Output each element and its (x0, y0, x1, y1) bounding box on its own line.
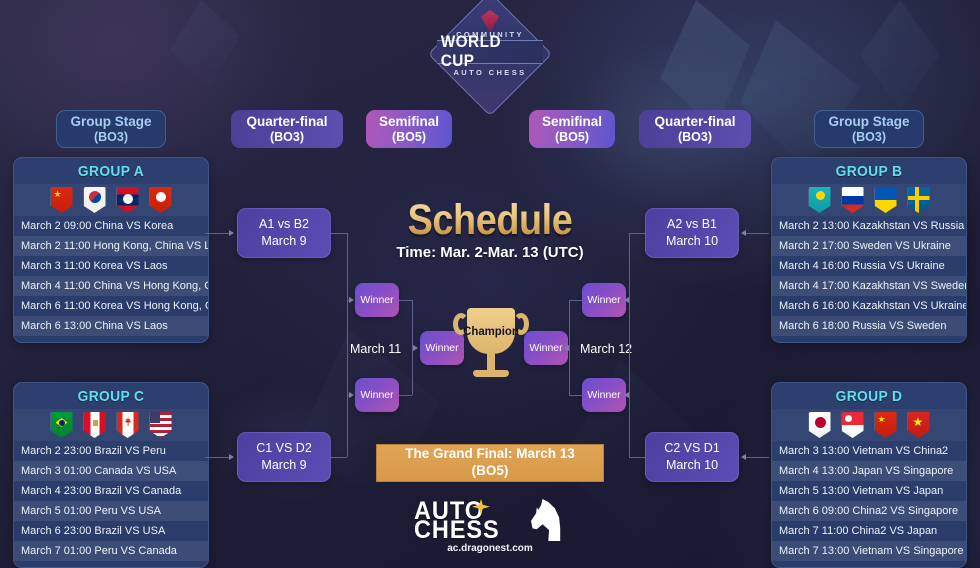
match-date: March 9 (261, 233, 306, 250)
match-row: March 6 11:00 Korea VS Hong Kong, China (14, 296, 208, 316)
page-title: Schedule (358, 196, 622, 245)
match-label: C1 VS D2 (256, 440, 312, 457)
connector-arrow (741, 454, 746, 460)
connector (743, 457, 769, 458)
winner-node-right-upper[interactable]: Winner (582, 283, 626, 317)
match-row: March 3 13:00 Vietnam VS China2 (772, 441, 966, 461)
winner-node-right-lower[interactable]: Winner (582, 378, 626, 412)
bg-shard (860, 0, 940, 110)
stage-badge-label: Semifinal (542, 114, 602, 129)
logo-autochess-text: AUTO CHESS (429, 68, 551, 77)
match-row: March 5 01:00 Peru VS USA (14, 501, 208, 521)
connector (205, 233, 231, 234)
quarterfinal-node-right-top[interactable]: A2 vs B1 March 10 (645, 208, 739, 258)
quarterfinal-node-right-bottom[interactable]: C2 VS D1 March 10 (645, 432, 739, 482)
panel-padding (14, 336, 208, 342)
group-flags (772, 184, 966, 216)
group-title: GROUP C (22, 383, 200, 409)
connector (331, 457, 347, 458)
connector-arrow (624, 392, 629, 398)
semifinal-left-date: March 11 (350, 342, 401, 356)
logo-main-text: WORLD CUP (441, 33, 540, 71)
match-label: A1 vs B2 (259, 216, 309, 233)
group-flags: ★ (14, 184, 208, 216)
hong-kong-flag (150, 187, 172, 213)
grand-final-banner: The Grand Final: March 13 (BO5) (376, 444, 604, 482)
group-flags: ★★ (772, 409, 966, 441)
match-row: March 2 23:00 Brazil VS Peru (14, 441, 208, 461)
singapore-flag (842, 412, 864, 438)
match-row: March 4 13:00 Japan VS Singapore (772, 461, 966, 481)
canada-flag (117, 412, 139, 438)
quarterfinal-node-left-bottom[interactable]: C1 VS D2 March 9 (237, 432, 331, 482)
connector-arrow (229, 230, 234, 236)
match-row: March 3 11:00 Korea VS Laos (14, 256, 208, 276)
connector-arrow (741, 230, 746, 236)
match-row: March 6 09:00 China2 VS Singapore (772, 501, 966, 521)
connector (743, 233, 769, 234)
match-row: March 6 16:00 Kazakhstan VS Ukraine (772, 296, 966, 316)
semifinal-right-date: March 12 (580, 342, 632, 356)
connector (347, 233, 348, 457)
connector (399, 300, 412, 301)
winner-node-left-upper[interactable]: Winner (355, 283, 399, 317)
stage-badge-quarterfinal-right: Quarter-final (BO3) (639, 110, 751, 148)
connector-arrow (349, 297, 354, 303)
panel-padding (14, 561, 208, 567)
match-row: March 2 13:00 Kazakhstan VS Russia (772, 216, 966, 236)
schedule-time-label: Time: Mar. 2-Mar. 13 (UTC) (340, 244, 640, 261)
match-row: March 2 09:00 China VS Korea (14, 216, 208, 236)
group-panel-a: GROUP A★March 2 09:00 China VS KoreaMarc… (13, 157, 209, 343)
quarterfinal-node-left-top[interactable]: A1 vs B2 March 9 (237, 208, 331, 258)
connector (629, 233, 630, 457)
group-title: GROUP A (22, 158, 200, 184)
bg-shard (300, 330, 440, 510)
match-row: March 6 23:00 Brazil VS USA (14, 521, 208, 541)
russia-flag (842, 187, 864, 213)
match-label: A2 vs B1 (667, 216, 717, 233)
china-flag: ★ (51, 187, 73, 213)
connector-arrow (349, 392, 354, 398)
tournament-logo: COMMUNITY WORLD CUP AUTO CHESS (429, 2, 551, 96)
group-title: GROUP D (780, 383, 958, 409)
panel-padding (772, 561, 966, 567)
match-row: March 2 17:00 Sweden VS Ukraine (772, 236, 966, 256)
champion-label: Champion (457, 324, 525, 338)
korea-flag (84, 187, 106, 213)
group-panel-d: GROUP D★★March 3 13:00 Vietnam VS China2… (771, 382, 967, 568)
footer-word-chess: CHESS (414, 516, 525, 545)
vietnam-flag: ★ (908, 412, 930, 438)
match-row: March 3 01:00 Canada VS USA (14, 461, 208, 481)
stage-badge-semifinal-right: Semifinal (BO5) (529, 110, 615, 148)
connector (569, 300, 582, 301)
knight-chess-piece-icon (526, 499, 562, 541)
match-row: March 7 11:00 China2 VS Japan (772, 521, 966, 541)
connector (569, 300, 570, 395)
stage-badge-label: Semifinal (379, 114, 439, 129)
stage-badge-label: Group Stage (70, 114, 151, 129)
stage-badge-format: (BO3) (678, 130, 712, 144)
stage-badge-label: Group Stage (828, 114, 909, 129)
match-row: March 4 11:00 China VS Hong Kong, China (14, 276, 208, 296)
champion-trophy-icon: Champion (455, 308, 527, 388)
match-date: March 10 (666, 233, 718, 250)
match-row: March 6 18:00 Russia VS Sweden (772, 316, 966, 336)
peru-flag (84, 412, 106, 438)
connector-arrow (229, 454, 234, 460)
stage-badge-quarterfinal-left: Quarter-final (BO3) (231, 110, 343, 148)
connector-arrow (564, 345, 569, 351)
grand-final-format: (BO5) (472, 463, 509, 480)
match-row: March 4 17:00 Kazakhstan VS Sweden (772, 276, 966, 296)
connector (205, 457, 231, 458)
connector (399, 395, 412, 396)
grand-final-title: The Grand Final: March 13 (405, 446, 575, 463)
match-row: March 7 01:00 Peru VS Canada (14, 541, 208, 561)
logo-main-band: WORLD CUP (437, 40, 543, 64)
match-row: March 4 23:00 Brazil VS Canada (14, 481, 208, 501)
group-panel-b: GROUP BMarch 2 13:00 Kazakhstan VS Russi… (771, 157, 967, 343)
connector (569, 395, 582, 396)
group-title: GROUP B (780, 158, 958, 184)
connector (629, 233, 645, 234)
stage-badge-format: (BO5) (392, 130, 426, 144)
winner-node-left-lower[interactable]: Winner (355, 378, 399, 412)
stage-badge-label: Quarter-final (654, 114, 735, 129)
match-row: March 2 11:00 Hong Kong, China VS Laos (14, 236, 208, 256)
bg-shard (170, 0, 240, 90)
winner-node-semifinal-right[interactable]: Winner (524, 331, 568, 365)
panel-padding (772, 336, 966, 342)
stage-badge-group-right: Group Stage (BO3) (814, 110, 924, 148)
kazakhstan-flag (809, 187, 831, 213)
connector-arrow (413, 345, 418, 351)
trophy-stem (487, 352, 495, 371)
match-row: March 5 13:00 Vietnam VS Japan (772, 481, 966, 501)
stage-badge-format: (BO5) (555, 130, 589, 144)
stage-badge-group-left: Group Stage (BO3) (56, 110, 166, 148)
japan-flag (809, 412, 831, 438)
footer-url: ac.dragonest.com (414, 543, 566, 554)
stage-badge-format: (BO3) (852, 130, 886, 144)
connector (331, 233, 347, 234)
match-row: March 6 13:00 China VS Laos (14, 316, 208, 336)
trophy-base (473, 370, 509, 377)
match-row: March 4 16:00 Russia VS Ukraine (772, 256, 966, 276)
stage-badge-semifinal-left: Semifinal (BO5) (366, 110, 452, 148)
match-label: C2 VS D1 (664, 440, 720, 457)
connector (629, 457, 645, 458)
laos-flag (117, 187, 139, 213)
group-panel-c: GROUP CMarch 2 23:00 Brazil VS PeruMarch… (13, 382, 209, 568)
group-flags (14, 409, 208, 441)
usa-flag (150, 412, 172, 438)
connector-arrow (624, 297, 629, 303)
autochess-footer-logo: AUTO CHESS ac.dragonest.com (414, 497, 566, 559)
stage-badge-format: (BO3) (94, 130, 128, 144)
match-date: March 10 (666, 457, 718, 474)
brazil-flag (51, 412, 73, 438)
china-flag: ★ (875, 412, 897, 438)
stage-badge-format: (BO3) (270, 130, 304, 144)
ukraine-flag (875, 187, 897, 213)
sweden-flag (908, 187, 930, 213)
stage-badge-label: Quarter-final (246, 114, 327, 129)
match-row: March 7 13:00 Vietnam VS Singapore (772, 541, 966, 561)
match-date: March 9 (261, 457, 306, 474)
